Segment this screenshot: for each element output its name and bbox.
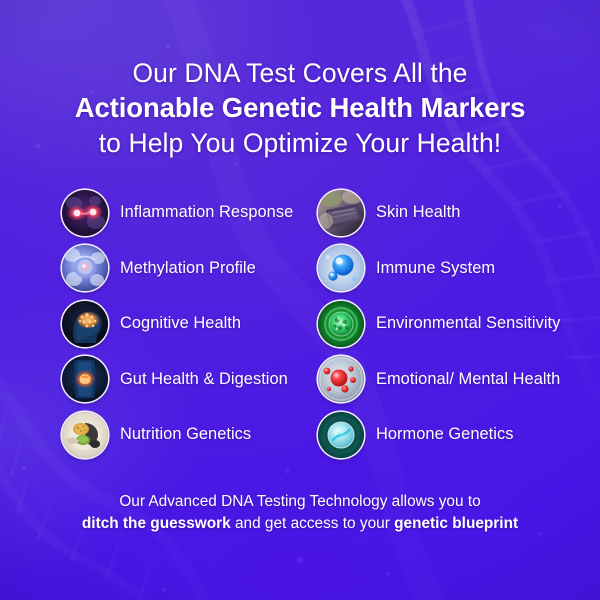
cognitive-icon bbox=[62, 301, 108, 347]
marker-item-environmental-sensitivity[interactable]: Environmental Sensitivity bbox=[318, 296, 600, 352]
skin-icon bbox=[318, 190, 364, 236]
marker-label: Environmental Sensitivity bbox=[376, 314, 560, 333]
immune-icon bbox=[318, 245, 364, 291]
marker-label: Cognitive Health bbox=[120, 314, 241, 333]
nutrition-icon bbox=[62, 412, 108, 458]
marker-label: Skin Health bbox=[376, 203, 460, 222]
emotional-icon bbox=[318, 356, 364, 402]
environmental-icon bbox=[318, 301, 364, 347]
dna-test-marketing-poster: Our DNA Test Covers All the Actionable G… bbox=[0, 0, 600, 600]
footer: Our Advanced DNA Testing Technology allo… bbox=[82, 491, 518, 536]
footer-line-2: ditch the guesswork and get access to yo… bbox=[82, 513, 518, 535]
marker-label: Methylation Profile bbox=[120, 259, 256, 278]
headline-line-3: to Help You Optimize Your Health! bbox=[75, 127, 526, 160]
headline: Our DNA Test Covers All the Actionable G… bbox=[75, 57, 526, 160]
marker-label: Gut Health & Digestion bbox=[120, 370, 288, 389]
inflammation-icon bbox=[62, 190, 108, 236]
gut-icon bbox=[62, 356, 108, 402]
footer-emphasis-1: ditch the guesswork bbox=[82, 515, 231, 532]
marker-item-hormone-genetics[interactable]: Hormone Genetics bbox=[318, 407, 600, 463]
headline-line-1: Our DNA Test Covers All the bbox=[75, 57, 526, 90]
methylation-icon bbox=[62, 245, 108, 291]
marker-item-cognitive-health[interactable]: Cognitive Health bbox=[62, 296, 318, 352]
marker-label: Nutrition Genetics bbox=[120, 425, 251, 444]
marker-label: Emotional/ Mental Health bbox=[376, 370, 560, 389]
marker-item-inflammation-response[interactable]: Inflammation Response bbox=[62, 185, 318, 241]
hormone-icon bbox=[318, 412, 364, 458]
marker-item-skin-health[interactable]: Skin Health bbox=[318, 185, 600, 241]
marker-item-nutrition-genetics[interactable]: Nutrition Genetics bbox=[62, 407, 318, 463]
footer-line-2-middle: and get access to your bbox=[231, 515, 394, 532]
headline-line-2: Actionable Genetic Health Markers bbox=[75, 91, 526, 126]
marker-item-immune-system[interactable]: Immune System bbox=[318, 241, 600, 297]
footer-line-1: Our Advanced DNA Testing Technology allo… bbox=[82, 491, 518, 513]
marker-label: Hormone Genetics bbox=[376, 425, 513, 444]
poster-content: Our DNA Test Covers All the Actionable G… bbox=[0, 0, 600, 600]
marker-grid: Inflammation Response bbox=[0, 185, 600, 463]
marker-item-methylation-profile[interactable]: Methylation Profile bbox=[62, 241, 318, 297]
marker-label: Inflammation Response bbox=[120, 203, 293, 222]
marker-item-gut-health-digestion[interactable]: Gut Health & Digestion bbox=[62, 352, 318, 408]
marker-label: Immune System bbox=[376, 259, 495, 278]
footer-emphasis-2: genetic blueprint bbox=[394, 515, 518, 532]
marker-item-emotional-mental-health[interactable]: Emotional/ Mental Health bbox=[318, 352, 600, 408]
